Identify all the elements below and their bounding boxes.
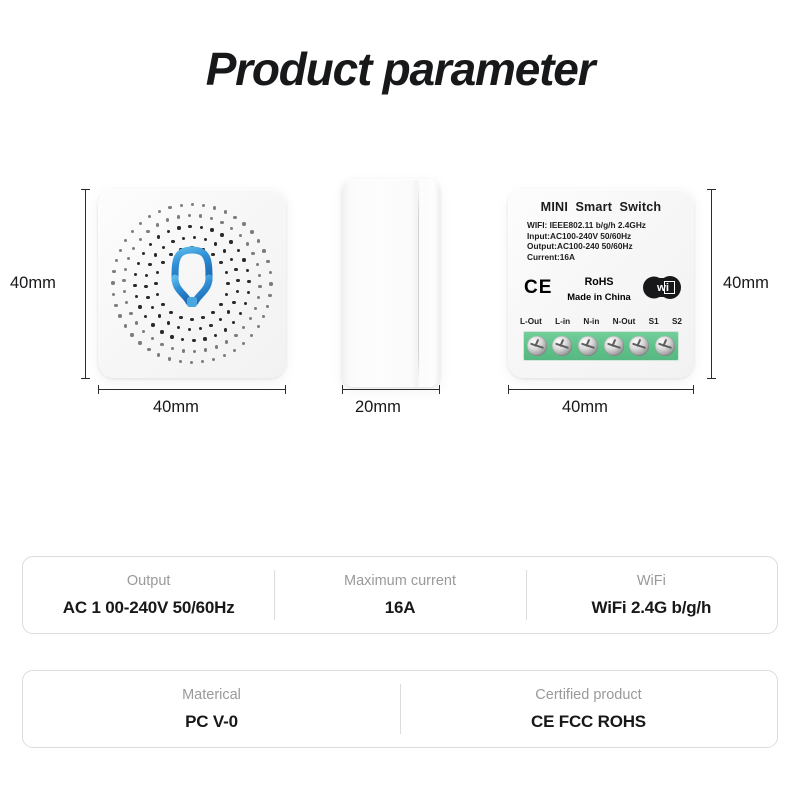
speaker-dot [112, 270, 115, 273]
speaker-dot [191, 203, 194, 206]
speaker-dot [227, 310, 230, 313]
terminal-label: N-in [583, 317, 599, 326]
spec-value: CE FCC ROHS [531, 712, 646, 732]
spec-value: PC V-0 [185, 712, 238, 732]
terminal-block [523, 331, 679, 361]
speaker-dot [177, 215, 180, 218]
speaker-dot [138, 305, 141, 308]
spec-value: AC 1 00-240V 50/60Hz [63, 598, 235, 618]
speaker-dot [124, 239, 127, 242]
speaker-dot [139, 238, 142, 241]
speaker-dot [142, 330, 145, 333]
speaker-dot [156, 271, 159, 274]
speaker-dot [233, 349, 236, 352]
speaker-dot [132, 247, 135, 250]
speaker-dot [266, 305, 269, 308]
speaker-dot [182, 349, 185, 352]
speaker-dot [254, 307, 257, 310]
speaker-dot [144, 285, 147, 288]
spec-key: Maximum current [344, 573, 456, 589]
speaker-dot [170, 335, 173, 338]
speaker-dot [146, 296, 149, 299]
speaker-dot [242, 258, 245, 261]
speaker-dot [188, 328, 191, 331]
speaker-dot [224, 210, 227, 213]
terminal-screw [578, 336, 598, 356]
speaker-dot [239, 312, 242, 315]
speaker-dot [225, 293, 228, 296]
speaker-dot [257, 296, 260, 299]
speaker-dot [181, 338, 184, 341]
dimension-line-side-width [342, 389, 440, 390]
label-spec-line: Output:AC100-240 50/60Hz [527, 241, 685, 252]
speaker-dot [204, 348, 207, 351]
speaker-dot [202, 204, 205, 207]
speaker-dot [257, 325, 260, 328]
speaker-dot [234, 334, 237, 337]
speaker-dot [188, 225, 191, 228]
dimension-label-back-width: 40mm [562, 398, 608, 417]
speaker-dot [151, 306, 154, 309]
speaker-dot [182, 237, 185, 240]
speaker-dot [234, 268, 237, 271]
speaker-dot [269, 271, 272, 274]
spec-value: 16A [385, 598, 416, 618]
wifi-badge-icon: wi [643, 274, 681, 301]
speaker-dot [177, 226, 180, 229]
speaker-dot [225, 340, 228, 343]
terminal-screw [655, 336, 675, 356]
speaker-dot [145, 274, 148, 277]
speaker-dot [232, 321, 235, 324]
product-back-view: MINI Smart Switch WIFI: IEEE802.11 b/g/h… [508, 189, 694, 378]
dimension-label-right-height: 40mm [723, 274, 769, 293]
speaker-dot [168, 206, 171, 209]
terminal-screw [527, 336, 547, 356]
spec-key: WiFi [637, 573, 666, 589]
speaker-dot [130, 333, 133, 336]
speaker-dot [154, 253, 157, 256]
speaker-dot [226, 282, 229, 285]
label-spec-line: Current:16A [527, 252, 685, 263]
dimension-line-front-width [98, 389, 286, 390]
wifi-badge-box [664, 281, 675, 294]
speaker-dot [131, 230, 134, 233]
speaker-dot [192, 339, 195, 342]
speaker-dot [168, 357, 171, 360]
smart-switch-logo-icon [161, 242, 223, 326]
speaker-dot [210, 217, 213, 220]
label-certification-row: CE RoHS Made in China wi [508, 273, 694, 313]
speaker-dot [251, 252, 254, 255]
speaker-dot [262, 249, 265, 252]
speaker-dot [135, 321, 138, 324]
speaker-dot [180, 204, 183, 207]
speaker-dot [244, 302, 247, 305]
speaker-dot [229, 240, 232, 243]
speaker-dot [225, 271, 228, 274]
speaker-dot [114, 304, 117, 307]
speaker-dot [154, 282, 157, 285]
speaker-dot [223, 354, 226, 357]
terminal-label: N-Out [613, 317, 636, 326]
speaker-dot [127, 257, 130, 260]
speaker-dot [224, 328, 227, 331]
speaker-dot [122, 279, 125, 282]
spec-cell: OutputAC 1 00-240V 50/60Hz [23, 557, 274, 633]
product-side-view [342, 179, 440, 387]
speaker-dot [237, 249, 240, 252]
speaker-dot [203, 337, 206, 340]
speaker-dot [166, 218, 169, 221]
speaker-dot [138, 341, 141, 344]
speaker-dot [157, 235, 160, 238]
label-spec-line: Input:AC100-240V 50/60Hz [527, 231, 685, 242]
speaker-dot [199, 214, 202, 217]
speaker-dot [230, 227, 233, 230]
speaker-dot [157, 353, 160, 356]
speaker-dot [246, 242, 249, 245]
label-spec-line: WIFI: IEEE802.11 b/g/h 2.4GHz [527, 220, 685, 231]
speaker-dot [247, 291, 250, 294]
speaker-dot [151, 337, 154, 340]
speaker-dot [129, 312, 132, 315]
speaker-dot [257, 239, 260, 242]
speaker-dot [148, 215, 151, 218]
speaker-dot [250, 334, 253, 337]
speaker-dot [256, 263, 259, 266]
speaker-dot [230, 258, 233, 261]
speaker-dot [258, 285, 261, 288]
terminal-screw [552, 336, 572, 356]
spec-key: Output [127, 573, 171, 589]
dimension-line-back-width [508, 389, 694, 390]
dimension-line-left-height [85, 189, 86, 379]
speaker-dot [232, 301, 235, 304]
speaker-dot [119, 249, 122, 252]
speaker-dot [214, 334, 217, 337]
speaker-dot [220, 233, 223, 236]
speaker-dot [115, 259, 118, 262]
speaker-dot [158, 210, 161, 213]
product-front-view [98, 189, 286, 378]
speaker-dot [142, 252, 145, 255]
terminal-label: L-Out [520, 317, 542, 326]
speaker-dot [242, 342, 245, 345]
speaker-dot [123, 290, 126, 293]
speaker-dot [236, 290, 239, 293]
speaker-dot [112, 293, 115, 296]
terminal-label-row: L-OutL-inN-inN-OutS1S2 [508, 317, 694, 326]
label-title: MINI Smart Switch [517, 200, 685, 214]
dimension-line-right-height [711, 189, 712, 379]
speaker-dot [236, 279, 239, 282]
speaker-dot [149, 243, 152, 246]
speaker-dot [146, 230, 149, 233]
speaker-dot [201, 360, 204, 363]
speaker-dot [268, 294, 271, 297]
label-spec-lines: WIFI: IEEE802.11 b/g/h 2.4GHzInput:AC100… [517, 220, 685, 262]
speaker-dot [177, 326, 180, 329]
speaker-dot [215, 345, 218, 348]
spec-cell: Maximum current16A [274, 557, 525, 633]
speaker-dot [188, 214, 191, 217]
speaker-dot [147, 348, 150, 351]
product-label: MINI Smart Switch WIFI: IEEE802.11 b/g/h… [508, 200, 694, 262]
speaker-dot [124, 268, 127, 271]
speaker-dot [233, 216, 236, 219]
speaker-dot [179, 360, 182, 363]
speaker-dot [160, 330, 163, 333]
speaker-dot [124, 324, 127, 327]
wifi-badge-text: wi [643, 282, 681, 294]
speaker-dot [125, 301, 128, 304]
dimension-label-side-width: 20mm [355, 398, 401, 417]
terminal-screw [604, 336, 624, 356]
speaker-dot [220, 221, 223, 224]
speaker-dot [239, 234, 242, 237]
spec-cell: WiFiWiFi 2.4G b/g/h [526, 557, 777, 633]
product-showcase: 40mm 40mm 20mm MINI Sma [0, 150, 800, 440]
speaker-dot [156, 293, 159, 296]
speaker-dot [269, 282, 272, 285]
spec-key: Certified product [535, 687, 641, 703]
speaker-dot [133, 284, 136, 287]
spec-key: Materical [182, 687, 241, 703]
speaker-dot [144, 315, 147, 318]
speaker-dot [160, 343, 163, 346]
dimension-label-front-width: 40mm [153, 398, 199, 417]
speaker-dot [258, 274, 261, 277]
speaker-dot [199, 327, 202, 330]
speaker-dot [249, 317, 252, 320]
terminal-label: S1 [649, 317, 659, 326]
speaker-dot [148, 263, 151, 266]
spec-cell: MatericalPC V-0 [23, 671, 400, 747]
housing-seam-line [418, 185, 419, 381]
speaker-dot [156, 223, 159, 226]
speaker-dot [242, 326, 245, 329]
terminal-label: L-in [555, 317, 570, 326]
spec-cell: Certified productCE FCC ROHS [400, 671, 777, 747]
speaker-dot [250, 230, 253, 233]
speaker-dot [193, 236, 196, 239]
speaker-dot [151, 323, 154, 326]
page-title: Product parameter [0, 42, 800, 96]
speaker-dot [242, 222, 245, 225]
speaker-dot [134, 273, 137, 276]
speaker-dot [111, 281, 114, 284]
speaker-dot [266, 260, 269, 263]
speaker-dot [262, 315, 265, 318]
speaker-dot [213, 206, 216, 209]
speaker-dot [200, 226, 203, 229]
speaker-dot [190, 361, 193, 364]
spec-table-row-2: MatericalPC V-0Certified productCE FCC R… [22, 670, 778, 748]
speaker-dot [247, 280, 250, 283]
speaker-dot [118, 314, 121, 317]
terminal-label: S2 [672, 317, 682, 326]
speaker-dot [139, 222, 142, 225]
speaker-dot [223, 249, 226, 252]
spec-value: WiFi 2.4G b/g/h [592, 598, 712, 618]
speaker-dot [246, 269, 249, 272]
speaker-dot [167, 230, 170, 233]
dimension-label-left-height: 40mm [10, 274, 56, 293]
speaker-dot [210, 228, 213, 231]
speaker-dot [137, 262, 140, 265]
terminal-screw [629, 336, 649, 356]
speaker-dot [193, 350, 196, 353]
spec-table-row-1: OutputAC 1 00-240V 50/60HzMaximum curren… [22, 556, 778, 634]
speaker-dot [171, 347, 174, 350]
speaker-dot [212, 358, 215, 361]
speaker-dot [135, 295, 138, 298]
